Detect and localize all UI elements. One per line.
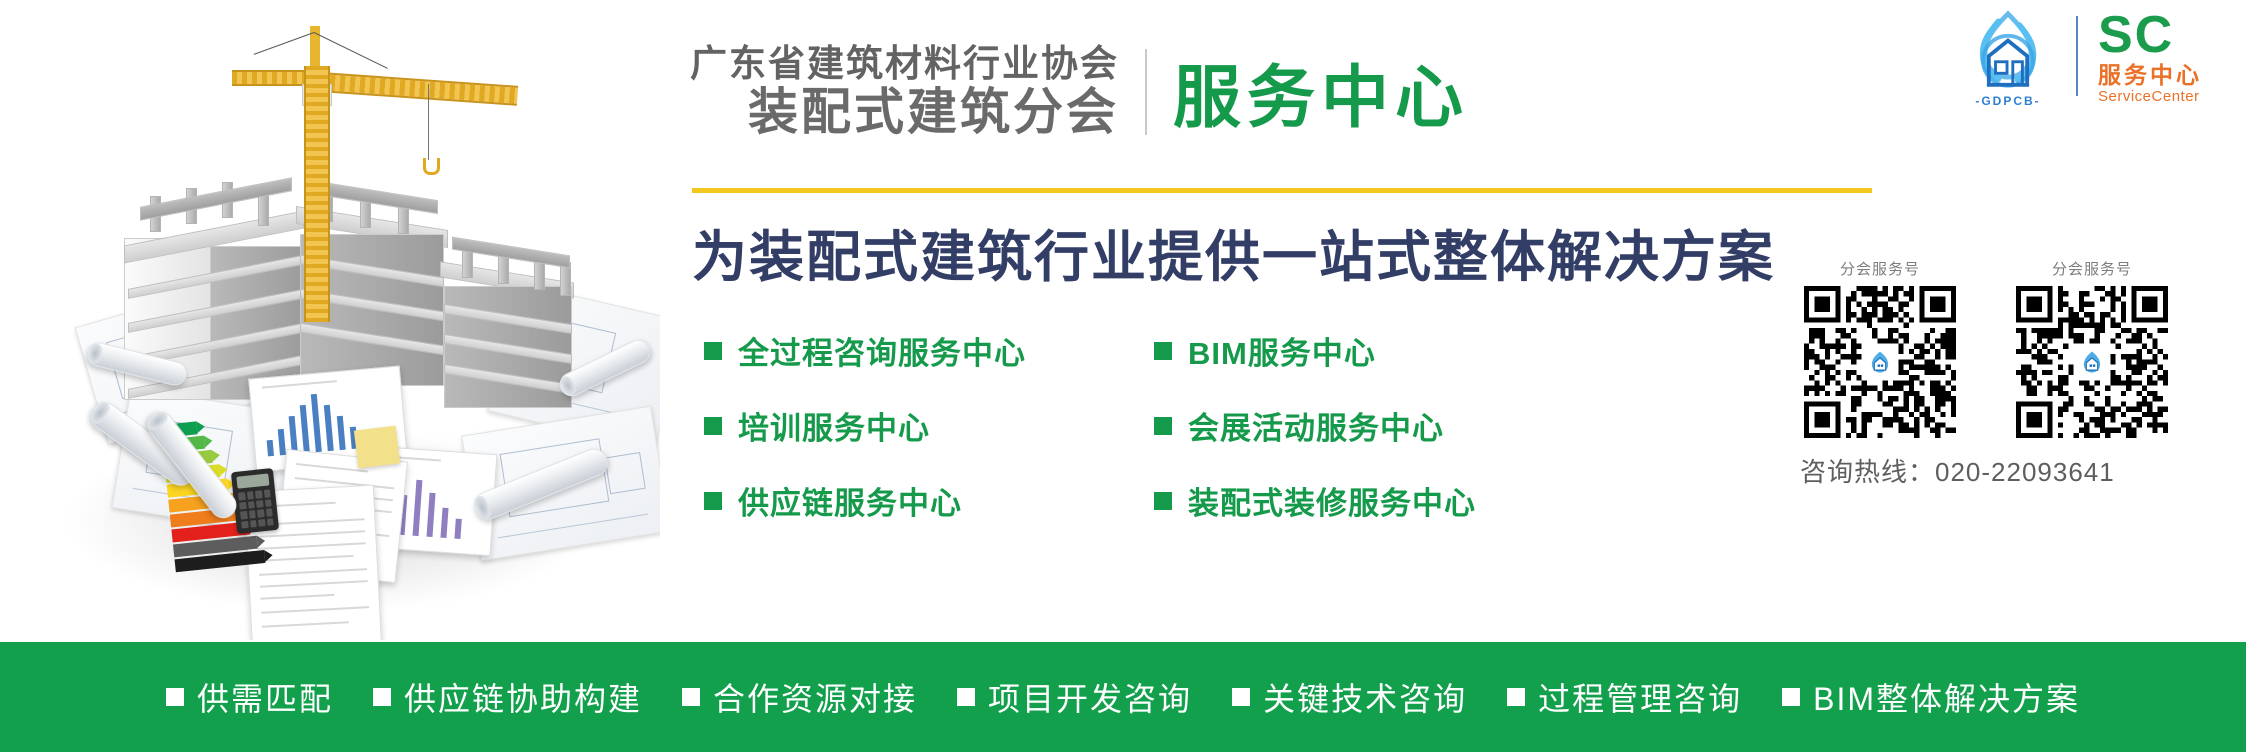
header-divider <box>1145 49 1147 135</box>
footer-tag-label: 过程管理咨询 <box>1538 674 1742 720</box>
crane-mast <box>304 66 330 322</box>
calculator-icon <box>231 468 279 534</box>
footer-tag-label: 项目开发咨询 <box>988 674 1192 720</box>
qr-center-logo-icon <box>2075 345 2109 379</box>
bullet-square-icon <box>1507 688 1525 706</box>
branch-name: 装配式建筑分会 <box>690 87 1119 138</box>
brand-text: SC 服务中心 ServiceCenter <box>2098 9 2202 104</box>
bullet-square-icon <box>373 688 391 706</box>
brand-name-cn: 服务中心 <box>2098 64 2202 87</box>
hotline-text: 咨询热线：020-22093641 <box>1800 452 2246 489</box>
association-name: 广东省建筑材料行业协会 <box>690 45 1119 83</box>
service-item[interactable]: 培训服务中心 <box>704 403 1124 448</box>
qr-code-item[interactable]: 分会服务号 <box>2012 258 2172 438</box>
organization-header: 广东省建筑材料行业协会 装配式建筑分会 服务中心 <box>690 42 1469 141</box>
bullet-square-icon <box>704 417 722 435</box>
qr-code-image[interactable] <box>2016 286 2168 438</box>
footer-tag[interactable]: 项目开发咨询 <box>957 674 1192 720</box>
footer-tag-label: BIM整体解决方案 <box>1813 674 2080 720</box>
service-label: 装配式装修服务中心 <box>1188 478 1476 523</box>
footer-tag-label: 供应链协助构建 <box>404 674 642 720</box>
service-label: 培训服务中心 <box>738 403 930 448</box>
bullet-square-icon <box>957 688 975 706</box>
crane-hoist-line <box>428 84 429 160</box>
flame-house-icon: -GDPCB- <box>1960 8 2056 104</box>
promo-banner: 广东省建筑材料行业协会 装配式建筑分会 服务中心 为装配式建筑行业提供一站式整体… <box>0 0 2246 752</box>
bullet-square-icon <box>1154 417 1172 435</box>
qr-code-item[interactable]: 分会服务号 <box>1800 258 1960 438</box>
bullet-square-icon <box>1154 492 1172 510</box>
qr-center-logo-icon <box>1863 345 1897 379</box>
bullet-square-icon <box>704 342 722 360</box>
qr-contact-block: 分会服务号 分会服务号 <box>1800 258 2246 489</box>
gold-divider-rule <box>692 188 1872 193</box>
qr-caption: 分会服务号 <box>1800 258 1960 279</box>
bullet-square-icon <box>166 688 184 706</box>
bullet-square-icon <box>1154 342 1172 360</box>
footer-tag-label: 供需匹配 <box>197 674 333 720</box>
footer-tag-label: 合作资源对接 <box>713 674 917 720</box>
bullet-square-icon <box>1232 688 1250 706</box>
service-item[interactable]: 会展活动服务中心 <box>1154 403 1574 448</box>
brand-abbrev: SC <box>2098 9 2202 61</box>
footer-tag[interactable]: 供需匹配 <box>166 674 333 720</box>
service-item[interactable]: 供应链服务中心 <box>704 478 1124 523</box>
service-label: BIM服务中心 <box>1188 328 1376 373</box>
bullet-square-icon <box>1782 688 1800 706</box>
service-item[interactable]: 装配式装修服务中心 <box>1154 478 1574 523</box>
footer-tag[interactable]: 过程管理咨询 <box>1507 674 1742 720</box>
footer-tag-bar: 供需匹配 供应链协助构建 合作资源对接 项目开发咨询 关键技术咨询 过程管理咨询… <box>0 642 2246 752</box>
service-item[interactable]: BIM服务中心 <box>1154 328 1574 373</box>
hero-illustration <box>0 0 660 640</box>
organization-names: 广东省建筑材料行业协会 装配式建筑分会 <box>690 45 1119 138</box>
sticky-note <box>354 426 400 469</box>
brand-mark-caption: -GDPCB- <box>1960 94 2056 108</box>
bullet-square-icon <box>704 492 722 510</box>
footer-tag[interactable]: 合作资源对接 <box>682 674 917 720</box>
service-item[interactable]: 全过程咨询服务中心 <box>704 328 1124 373</box>
services-list: 全过程咨询服务中心 BIM服务中心 培训服务中心 会展活动服务中心 供应链服务中… <box>704 328 1724 523</box>
footer-tag-label: 关键技术咨询 <box>1263 674 1467 720</box>
service-label: 会展活动服务中心 <box>1188 403 1444 448</box>
content-area: 广东省建筑材料行业协会 装配式建筑分会 服务中心 为装配式建筑行业提供一站式整体… <box>690 0 2246 640</box>
tower-crane-icon <box>192 18 522 318</box>
headline-slogan: 为装配式建筑行业提供一站式整体解决方案 <box>692 212 1775 292</box>
footer-tag[interactable]: 关键技术咨询 <box>1232 674 1467 720</box>
footer-tag[interactable]: BIM整体解决方案 <box>1782 674 2080 720</box>
service-label: 全过程咨询服务中心 <box>738 328 1026 373</box>
brand-name-en: ServiceCenter <box>2098 89 2202 104</box>
crane-counter-jib <box>232 70 310 86</box>
crane-jib <box>319 72 518 106</box>
brand-divider <box>2076 16 2078 96</box>
bullet-square-icon <box>682 688 700 706</box>
brand-logo[interactable]: -GDPCB- SC 服务中心 ServiceCenter <box>1960 8 2202 104</box>
footer-tag[interactable]: 供应链协助构建 <box>373 674 642 720</box>
qr-caption: 分会服务号 <box>2012 258 2172 279</box>
crane-hook-icon <box>423 158 440 175</box>
qr-code-image[interactable] <box>1804 286 1956 438</box>
service-label: 供应链服务中心 <box>738 478 962 523</box>
service-center-title: 服务中心 <box>1173 42 1469 141</box>
